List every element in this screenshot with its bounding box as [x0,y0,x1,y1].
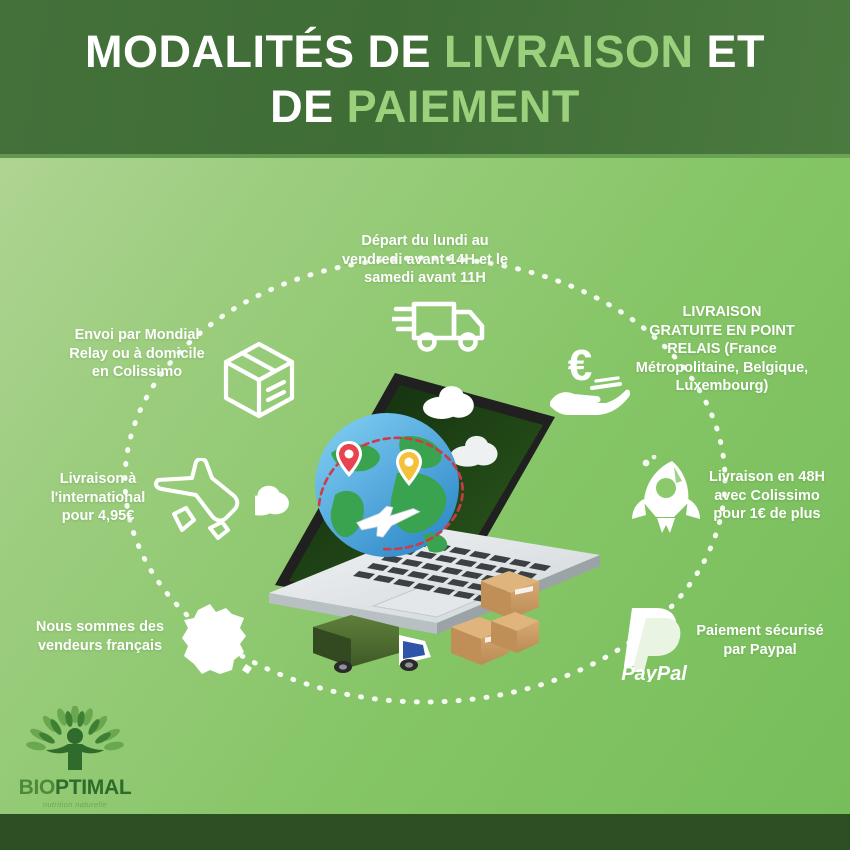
logo-wordmark: BIOPTIMAL [14,777,136,799]
paypal-wordmark: PayPal [621,663,687,682]
callout-express-48h: Livraison en 48H avec Colissimo pour 1€ … [692,468,842,524]
callout-line: vendeurs français [16,637,184,656]
title-part-plain-2: DE [270,81,347,132]
callout-line: pour 1€ de plus [692,505,842,524]
callout-line: LIVRAISON [608,303,836,322]
callout-line: en Colissimo [42,363,232,382]
callout-line: vendredi avant 14H et le [317,251,533,270]
callout-line: avec Colissimo [692,487,842,506]
callout-line: RELAIS (France [608,340,836,359]
france-map-icon [174,598,256,682]
callout-line: Livraison en 48H [692,468,842,487]
brand-logo: BIOPTIMAL nutrition naturelle [14,706,136,809]
callout-line: Paiement sécurisé [680,622,840,641]
callout-line: Relay ou à domicile [42,345,232,364]
callout-line: par Paypal [680,641,840,660]
page-title-line-2: DE PAIEMENT [270,79,580,134]
callout-line: Livraison à [22,470,174,489]
svg-text:€: € [568,341,592,390]
title-part-plain: MODALITÉS DE [85,26,444,77]
infographic-canvas: MODALITÉS DE LIVRAISON ET DE PAIEMENT [0,0,850,850]
title-part-accent: LIVRAISON [444,26,694,77]
callout-secure-payment: Paiement sécurisé par Paypal [680,622,840,659]
callout-line: Envoi par Mondial [42,326,232,345]
header-banner: MODALITÉS DE LIVRAISON ET DE PAIEMENT [0,0,850,158]
bioptimal-tree-icon [14,706,136,772]
callout-line: Luxembourg) [608,377,836,396]
callout-line: Métropolitaine, Belgique, [608,359,836,378]
callout-line: Départ du lundi au [317,232,533,251]
logo-bio-text: BIO [19,776,55,799]
callout-line: l'international [22,489,174,508]
logo-ptimal-text: PTIMAL [55,776,131,799]
callout-french-sellers: Nous sommes des vendeurs français [16,618,184,655]
callout-line: samedi avant 11H [317,269,533,288]
logo-tagline: nutrition naturelle [14,800,136,809]
callout-free-pickup-point: LIVRAISON GRATUITE EN POINT RELAIS (Fran… [608,303,836,396]
title-part-accent-2: PAIEMENT [347,81,580,132]
title-part-tail: ET [694,26,766,77]
callout-line: pour 4,95€ [22,507,174,526]
callout-international: Livraison à l'international pour 4,95€ [22,470,174,526]
callout-shipping-window: Départ du lundi au vendredi avant 14H et… [317,232,533,288]
page-title-line-1: MODALITÉS DE LIVRAISON ET [85,24,765,79]
callout-line: GRATUITE EN POINT [608,322,836,341]
delivery-truck-icon [392,292,496,358]
bottom-band [0,814,850,850]
callout-line: Nous sommes des [16,618,184,637]
callout-carriers: Envoi par Mondial Relay ou à domicile en… [42,326,232,382]
